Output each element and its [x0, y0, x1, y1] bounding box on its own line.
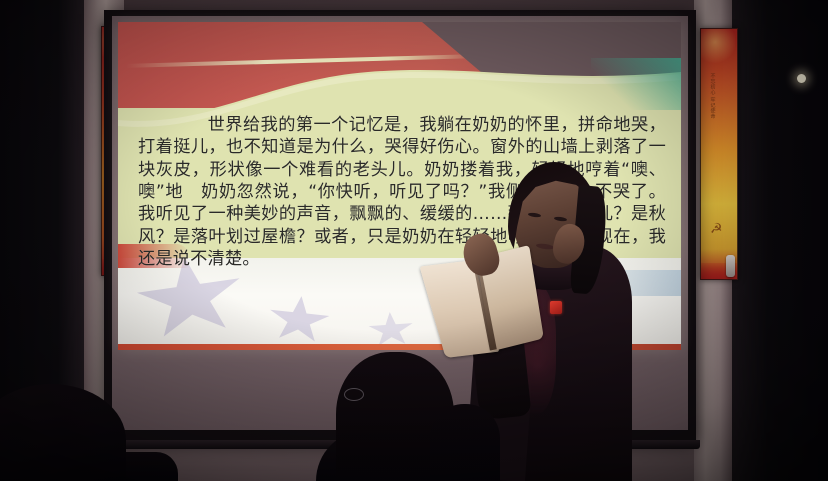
wall-mount-bracket: [726, 255, 735, 277]
audience-member-right: [430, 404, 500, 481]
banner-glow-right: [700, 28, 735, 65]
photo-scene: ☭ 党建引领 不忘初心 牢记使命 ☭ 世界给我的第一个记忆是，我: [0, 0, 828, 481]
slide-teal-accent: [591, 58, 681, 110]
banner-right-text: 不忘初心 牢记使命: [707, 73, 717, 193]
ceiling-light: [797, 74, 806, 83]
party-pin-badge: [550, 301, 562, 314]
party-banner-right: 不忘初心 牢记使命 ☭: [700, 28, 738, 280]
glasses-icon: [344, 388, 364, 401]
star-icon: [266, 293, 333, 347]
banner-emblem-icon: ☭: [710, 221, 723, 237]
